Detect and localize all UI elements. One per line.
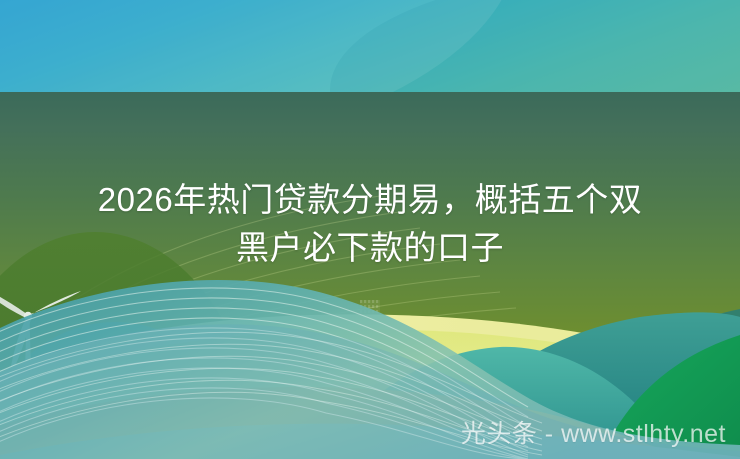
sky-band (0, 0, 740, 92)
poster-banner: 2026年热门贷款分期易，概括五个双 黑户必下款的口子 光头条 - www.st… (0, 0, 740, 459)
watermark-text: 光头条 - www.stlhty.net (461, 417, 726, 451)
